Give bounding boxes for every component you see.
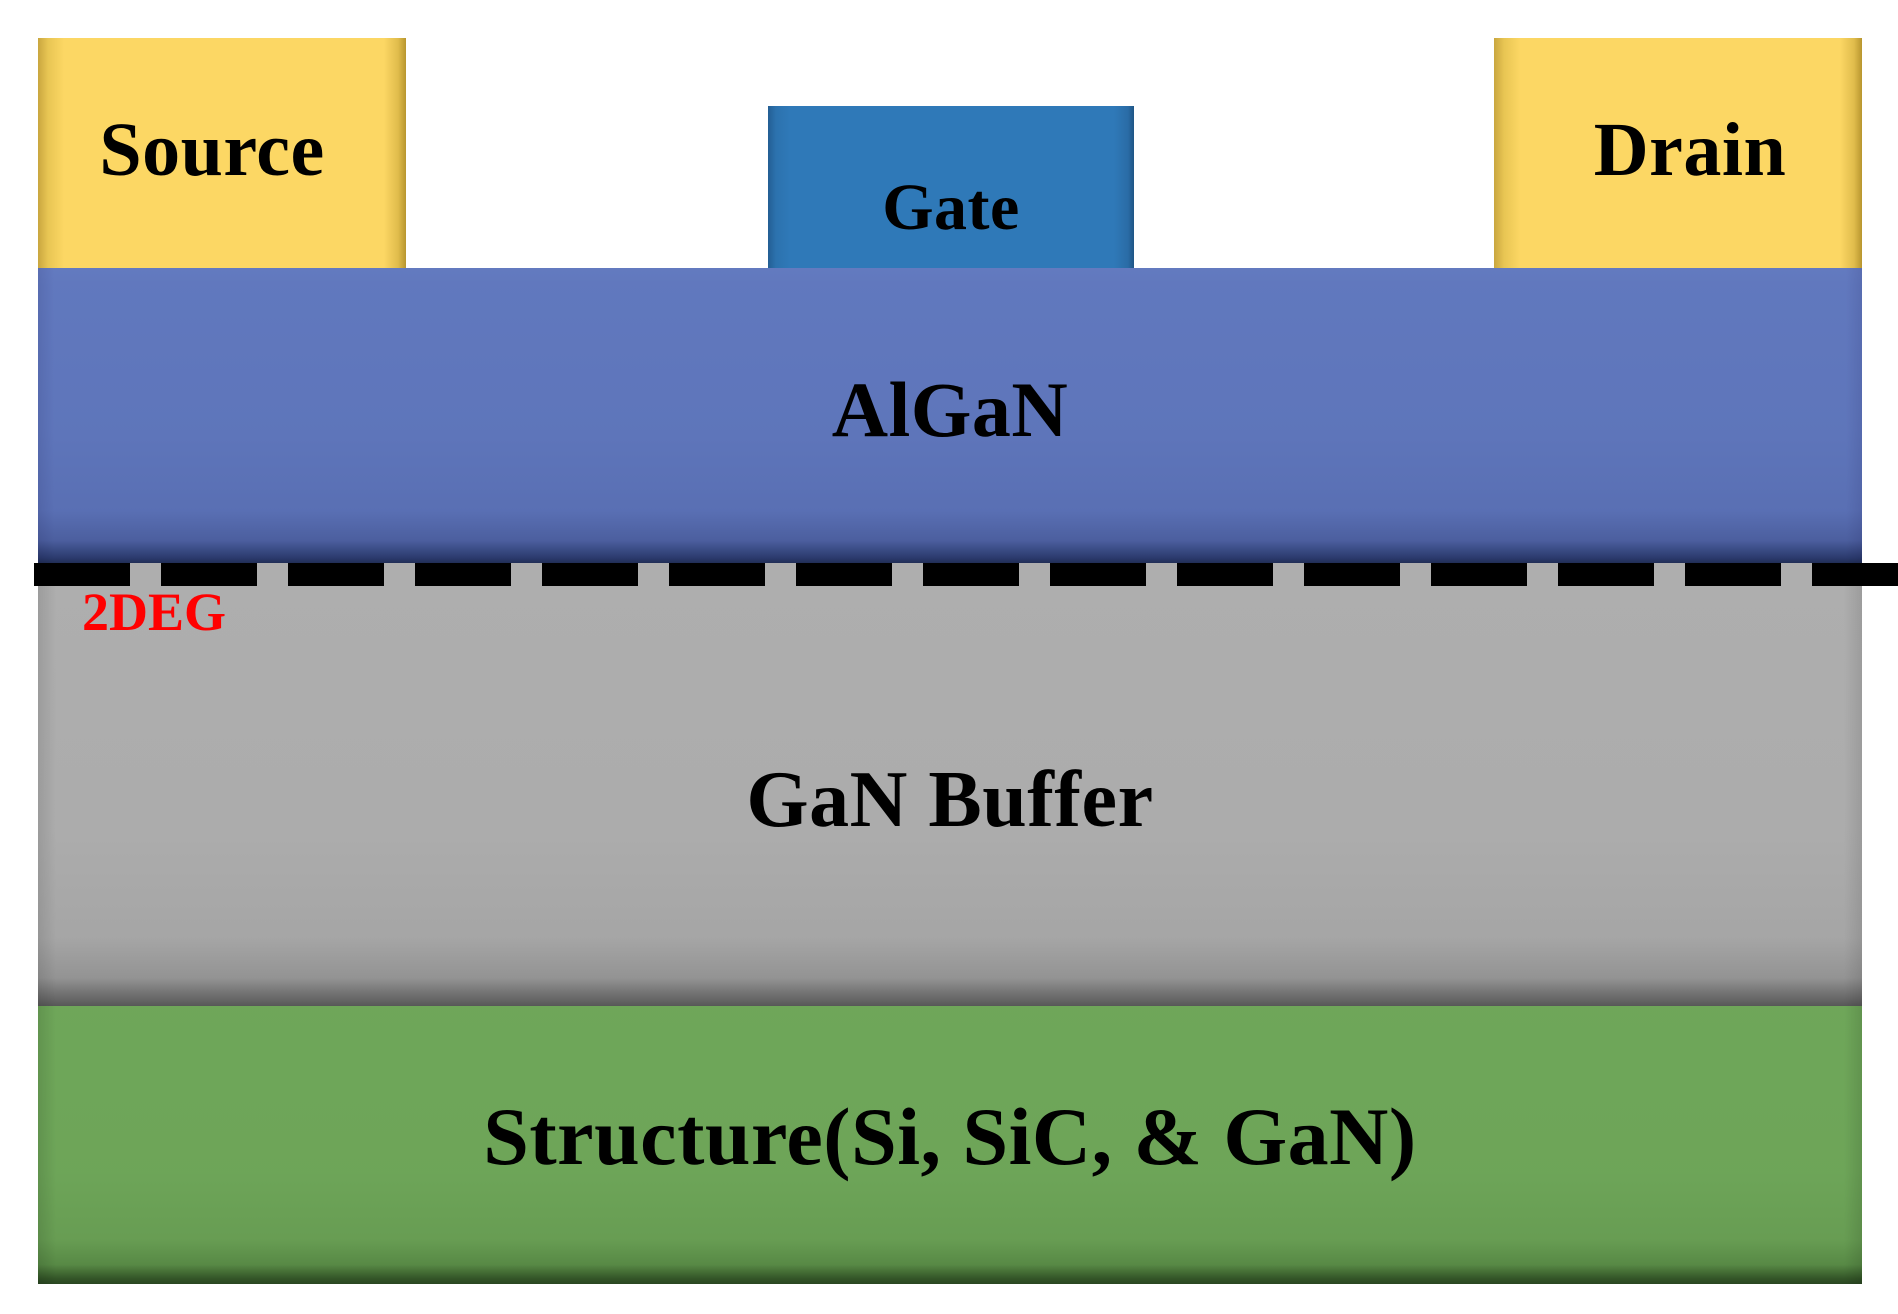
algan-layer: AlGaN [38, 268, 1862, 564]
algan-layer-label: AlGaN [832, 371, 1069, 449]
substrate-layer: Structure(Si, SiC, & GaN) [38, 1006, 1862, 1284]
two-deg-dashed-line [34, 563, 1898, 586]
two-deg-label: 2DEG [82, 585, 226, 639]
substrate-layer-label: Structure(Si, SiC, & GaN) [483, 1096, 1416, 1178]
source-label: Source [99, 112, 324, 188]
drain-label: Drain [1594, 112, 1787, 188]
hemt-cross-section-diagram: Source Gate Drain AlGaN GaN Buffer Struc… [0, 0, 1898, 1314]
gate-label: Gate [882, 175, 1020, 241]
gan-buffer-layer: GaN Buffer [38, 563, 1862, 1009]
gan-buffer-layer-label: GaN Buffer [746, 760, 1153, 840]
